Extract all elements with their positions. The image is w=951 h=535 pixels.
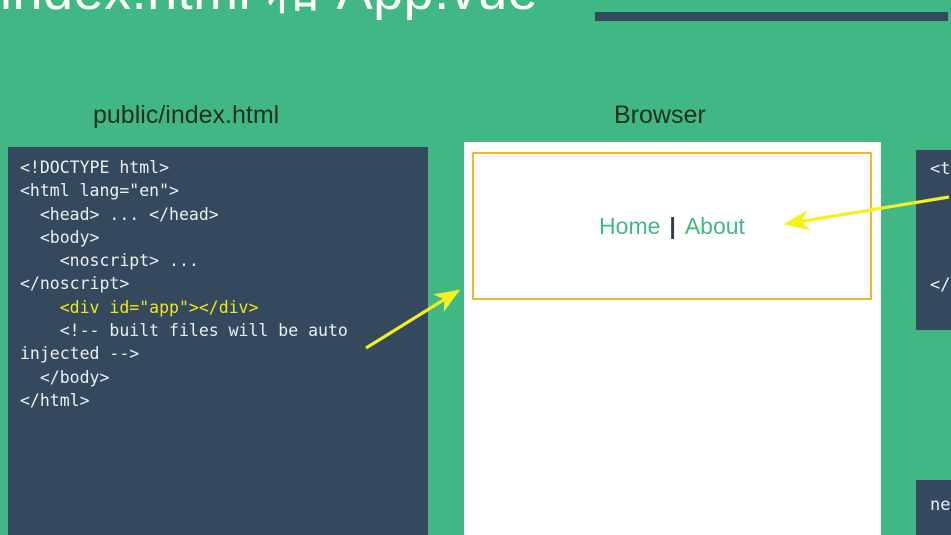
code-line-div-app: <div id="app"></div> bbox=[60, 298, 259, 317]
code-block-index-html: <!DOCTYPE html> <html lang="en"> <head> … bbox=[8, 147, 428, 535]
code-lines-after: <!-- built files will be auto injected -… bbox=[20, 321, 358, 410]
code-lines-before: <!DOCTYPE html> <html lang="en"> <head> … bbox=[20, 158, 219, 317]
browser-nav-links: Home | About bbox=[474, 154, 870, 298]
code-app-vue-close-tag: </ bbox=[930, 275, 950, 295]
code-app-vue-open-tag: <t bbox=[930, 159, 950, 179]
caption-right-browser: Browser bbox=[614, 101, 706, 130]
nav-link-home[interactable]: Home bbox=[599, 213, 660, 240]
nav-link-about[interactable]: About bbox=[685, 213, 745, 240]
caption-left-file: public/index.html bbox=[93, 101, 279, 130]
browser-viewport: Home | About bbox=[472, 152, 872, 300]
title-divider bbox=[595, 12, 948, 21]
code-content-app-vue-secondary: ne bbox=[930, 494, 951, 517]
nav-separator: | bbox=[669, 213, 675, 240]
code-block-app-vue-secondary: ne bbox=[916, 480, 951, 535]
code-content-app-vue: <t</ bbox=[930, 158, 951, 298]
page-title: index.html 和 App.vue bbox=[0, 0, 538, 18]
code-content-index-html: <!DOCTYPE html> <html lang="en"> <head> … bbox=[20, 156, 418, 412]
slide-canvas: index.html 和 App.vue public/index.html B… bbox=[0, 0, 951, 535]
code-app-vue-spacer bbox=[930, 181, 951, 274]
code-block-app-vue: <t</ bbox=[916, 150, 951, 330]
